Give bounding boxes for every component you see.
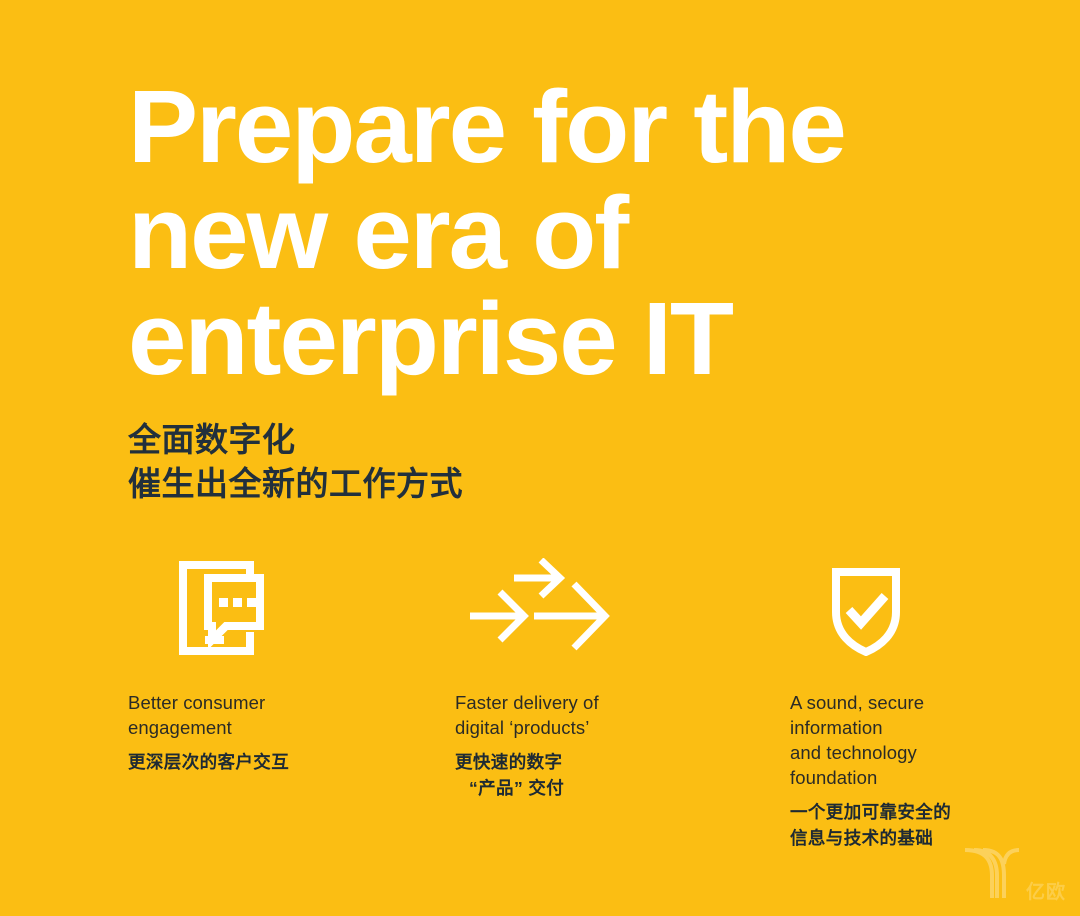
slide-canvas: Prepare for the new era of enterprise IT…: [0, 0, 1080, 916]
feature-caption-1: Faster delivery of digital ‘products’ 更快…: [455, 690, 745, 801]
subtitle-line-1: 全面数字化: [128, 418, 463, 462]
mobile-chat-icon: [178, 560, 264, 661]
subtitle-line-2: 催生出全新的工作方式: [128, 462, 463, 506]
feature-caption-cn-0: 更深层次的客户交互: [128, 749, 418, 775]
caption-cn-line: 更深层次的客户交互: [128, 749, 418, 775]
page-title: Prepare for the new era of enterprise IT: [128, 74, 968, 392]
headline-line-3: enterprise IT: [128, 286, 985, 392]
feature-caption-0: Better consumer engagement 更深层次的客户交互: [128, 690, 418, 775]
headline-line-2: new era of: [128, 180, 985, 286]
caption-en-line: and technology: [790, 740, 1040, 765]
feature-caption-en-1: Faster delivery of digital ‘products’: [455, 690, 745, 740]
feature-caption-2: A sound, secure information and technolo…: [790, 690, 1040, 851]
subtitle: 全面数字化 催生出全新的工作方式: [128, 418, 463, 506]
three-arrows-icon: [462, 558, 622, 663]
feature-caption-en-0: Better consumer engagement: [128, 690, 418, 740]
watermark-text: 亿欧: [1026, 883, 1066, 902]
caption-en-line: information: [790, 715, 1040, 740]
caption-en-line: digital ‘products’: [455, 715, 745, 740]
caption-cn-line: “产品” 交付: [455, 775, 745, 801]
caption-en-line: Faster delivery of: [455, 690, 745, 715]
caption-en-line: engagement: [128, 715, 418, 740]
caption-cn-line: 一个更加可靠安全的: [790, 799, 1040, 825]
yiou-logo-icon: [961, 842, 1023, 902]
headline-line-1: Prepare for the: [128, 74, 985, 180]
shield-check-icon: [830, 566, 902, 661]
feature-caption-cn-1: 更快速的数字 “产品” 交付: [455, 749, 745, 801]
watermark: 亿欧: [961, 842, 1066, 902]
caption-en-line: A sound, secure: [790, 690, 1040, 715]
feature-caption-en-2: A sound, secure information and technolo…: [790, 690, 1040, 790]
caption-cn-line: 更快速的数字: [455, 749, 745, 775]
caption-en-line: foundation: [790, 765, 1040, 790]
caption-en-line: Better consumer: [128, 690, 418, 715]
